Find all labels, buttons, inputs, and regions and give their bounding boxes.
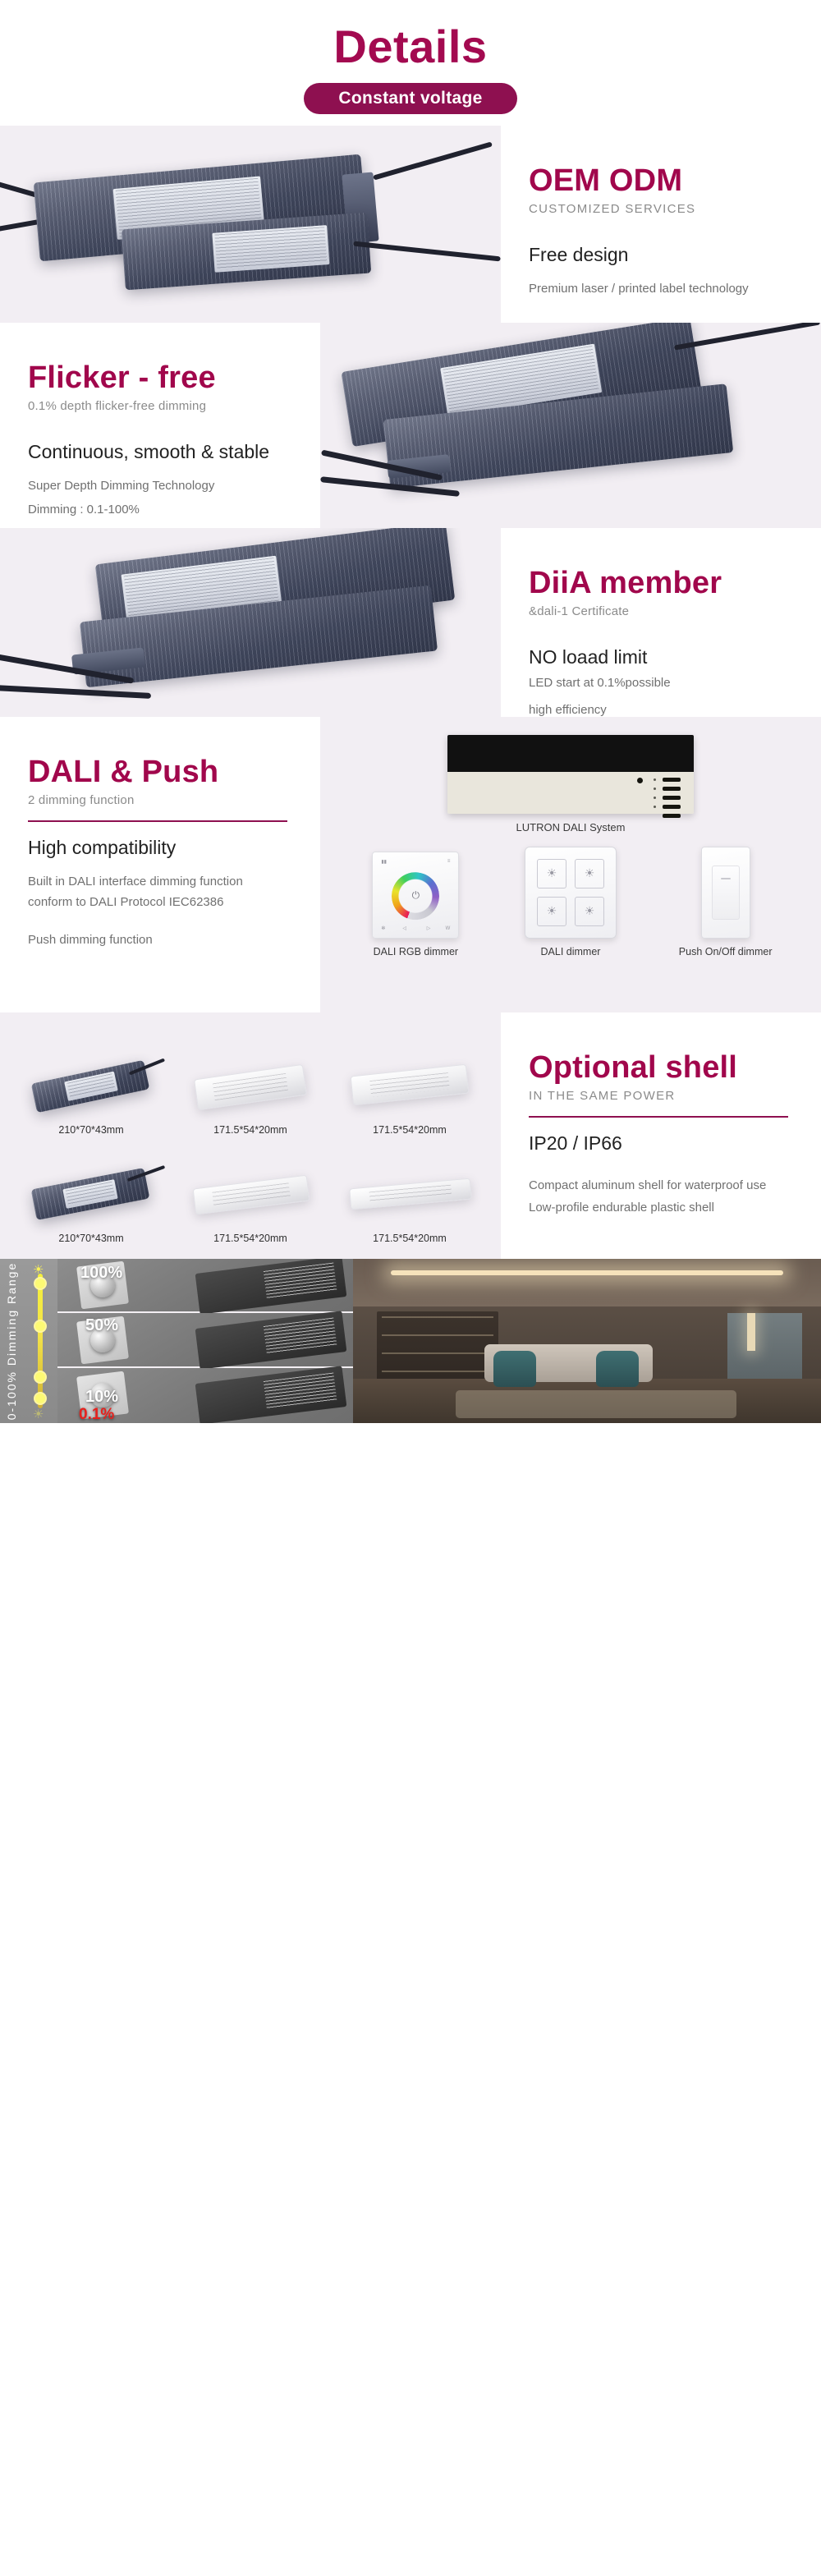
window: [727, 1313, 802, 1389]
section-optional-shell: 210*70*43mm 171.5*54*20mm: [0, 1012, 821, 1259]
dimming-slider-track[interactable]: [38, 1274, 43, 1408]
diia-text-column: DiiA member &dali-1 Certificate NO loaad…: [501, 528, 821, 717]
dali-dimmer-image: ☀ ☀ ☀ ☀: [525, 847, 617, 939]
section-body-line2: Dimming : 0.1-100%: [28, 500, 287, 520]
power-icon: ⏻: [412, 889, 420, 902]
shell-image-aluminum: [21, 1155, 161, 1228]
dimming-axis-label: 0-100% Dimming Range: [5, 1262, 18, 1421]
shell-image-plastic: [181, 1047, 320, 1119]
shell-item: 210*70*43mm: [11, 1136, 171, 1244]
dimming-photo-50: 50%: [57, 1313, 353, 1368]
dimmer-caption: Push On/Off dimmer: [656, 945, 796, 958]
dimmer-cell-push: Push On/Off dimmer: [656, 847, 796, 958]
shell-item: 171.5*54*20mm: [330, 1027, 489, 1136]
oem-text-column: OEM ODM CUSTOMIZED SERVICES Free design …: [501, 126, 821, 323]
rocker-switch[interactable]: [712, 866, 740, 920]
dim-min-label: 0.1%: [79, 1406, 114, 1423]
flicker-text-column: Flicker - free 0.1% depth flicker-free d…: [0, 323, 320, 528]
oem-product-image: [0, 126, 501, 323]
section-subtitle: IN THE SAME POWER: [529, 1089, 788, 1103]
rug: [456, 1390, 736, 1418]
key-grid[interactable]: ☀ ☀ ☀ ☀: [537, 859, 604, 926]
section-title: DALI & Push: [28, 755, 287, 790]
shell-text-column: Optional shell IN THE SAME POWER IP20 / …: [501, 1012, 821, 1259]
section-title: Optional shell: [529, 1050, 788, 1086]
armchair: [493, 1351, 536, 1387]
shell-image-aluminum: [21, 1047, 161, 1119]
lutron-caption: LUTRON DALI System: [338, 821, 803, 833]
keypad-buttons[interactable]: [663, 778, 681, 823]
diia-product-image: [0, 528, 501, 717]
shell-size: 171.5*54*20mm: [213, 1124, 287, 1136]
shell-item: 171.5*54*20mm: [171, 1136, 330, 1244]
cove-lighting: [391, 1270, 784, 1275]
dimmer-cell-dali: ☀ ☀ ☀ ☀ DALI dimmer: [501, 847, 640, 958]
section-title: OEM ODM: [529, 163, 788, 199]
dimmer-products-row: ▮▮ ≡ ⏻ ✻ ◁ ▷ W DALI RGB dimmer ☀: [338, 847, 803, 958]
section-diia-member: DiiA member &dali-1 Certificate NO loaad…: [0, 528, 821, 717]
dim-level-label: 10%: [85, 1388, 118, 1407]
lamp-key-icon[interactable]: ☀: [575, 897, 604, 926]
shell-item: 171.5*54*20mm: [330, 1136, 489, 1244]
label-text-lines: [214, 227, 327, 270]
section-body-line1: LED start at 0.1%possible: [529, 673, 788, 693]
dali-text-column: DALI & Push 2 dimming function High comp…: [0, 717, 320, 1012]
divider: [529, 1116, 788, 1118]
output-wire: [353, 241, 501, 261]
driver-unit: [195, 1366, 347, 1423]
sun-dim-icon: ☀: [33, 1407, 44, 1421]
dim-level-label: 100%: [80, 1264, 122, 1283]
floor-lamp: [747, 1313, 755, 1351]
input-wire: [674, 323, 820, 351]
shell-size: 171.5*54*20mm: [373, 1233, 447, 1244]
product-label: [212, 225, 329, 273]
section-heading2: NO loaad limit: [529, 646, 788, 668]
section-dimming-showcase: ☀ ☀ 0-100% Dimming Range 100% 50: [0, 1259, 821, 1423]
dimming-photo-100: 100%: [57, 1259, 353, 1314]
slider-node-100[interactable]: [34, 1277, 47, 1290]
badge-wrapper: Constant voltage: [0, 83, 821, 114]
section-dali-push: DALI & Push 2 dimming function High comp…: [0, 717, 821, 1012]
section-body-line1: Compact aluminum shell for waterproof us…: [529, 1176, 788, 1196]
shell-item: 171.5*54*20mm: [171, 1027, 330, 1136]
lamp-key-icon[interactable]: ☀: [537, 897, 566, 926]
section-flicker-free: Flicker - free 0.1% depth flicker-free d…: [0, 323, 821, 528]
dimmer-cell-rgb: ▮▮ ≡ ⏻ ✻ ◁ ▷ W DALI RGB dimmer: [346, 852, 485, 958]
dimmer-caption: DALI RGB dimmer: [346, 945, 485, 958]
section-heading2: IP20 / IP66: [529, 1132, 788, 1155]
section-title: Flicker - free: [28, 360, 287, 396]
dimming-axis: ☀ ☀ 0-100% Dimming Range: [0, 1259, 57, 1423]
section-subtitle: CUSTOMIZED SERVICES: [529, 202, 788, 216]
shell-size: 171.5*54*20mm: [373, 1124, 447, 1136]
flicker-product-image: [320, 323, 821, 528]
page-title: Details: [0, 23, 821, 71]
section-body: Premium laser / printed label technology: [529, 279, 788, 299]
section-body-line2: Low-profile endurable plastic shell: [529, 1198, 788, 1218]
section-heading2: Free design: [529, 244, 788, 266]
section-body-line1: Super Depth Dimming Technology: [28, 476, 287, 496]
section-heading2: High compatibility: [28, 837, 287, 859]
dali-rgb-dimmer-image: ▮▮ ≡ ⏻ ✻ ◁ ▷ W: [372, 852, 459, 939]
slider-node-min[interactable]: [34, 1392, 47, 1405]
driver-unit: [195, 1311, 347, 1370]
driver-unit: [195, 1259, 347, 1315]
section-oem-odm: OEM ODM CUSTOMIZED SERVICES Free design …: [0, 126, 821, 323]
dali-devices-panel: LUTRON DALI System ▮▮ ≡ ⏻ ✻ ◁ ▷ W DALI R…: [320, 717, 821, 1012]
dimmer-caption: DALI dimmer: [501, 945, 640, 958]
shell-item: 210*70*43mm: [11, 1027, 171, 1136]
dimming-photo-10: 10% 0.1%: [57, 1368, 353, 1423]
ir-sensor-icon: [637, 778, 643, 783]
lamp-key-icon[interactable]: ☀: [575, 859, 604, 889]
section-title: DiiA member: [529, 566, 788, 601]
lamp-key-icon[interactable]: ☀: [537, 859, 566, 889]
divider: [28, 820, 287, 822]
section-subtitle: &dali-1 Certificate: [529, 604, 788, 618]
shell-size: 210*70*43mm: [58, 1233, 123, 1244]
slider-node-10[interactable]: [34, 1371, 47, 1384]
section-subtitle: 2 dimming function: [28, 793, 287, 807]
slider-node-50[interactable]: [34, 1320, 47, 1333]
lutron-dali-system-image: [447, 735, 694, 814]
dim-level-label: 50%: [85, 1316, 118, 1335]
status-badge: Constant voltage: [304, 83, 516, 114]
shell-size: 171.5*54*20mm: [213, 1233, 287, 1244]
page-header: Details Constant voltage: [0, 0, 821, 126]
push-onoff-dimmer-image: [701, 847, 750, 939]
shell-image-plastic: [340, 1155, 479, 1228]
interior-application-photo: [353, 1259, 821, 1423]
section-heading2: Continuous, smooth & stable: [28, 441, 287, 463]
shell-image-plastic: [181, 1155, 320, 1228]
dimming-photos: 100% 50% 10% 0.1%: [57, 1259, 353, 1423]
shell-size: 210*70*43mm: [58, 1124, 123, 1136]
dimming-range-panel: ☀ ☀ 0-100% Dimming Range 100% 50: [0, 1259, 353, 1423]
ceiling: [353, 1259, 821, 1306]
product-detail-page: Details Constant voltage: [0, 0, 821, 1423]
shell-image-plastic: [340, 1047, 479, 1119]
shell-gallery: 210*70*43mm 171.5*54*20mm: [0, 1012, 501, 1259]
status-leds: [654, 778, 656, 815]
output-wire: [0, 685, 151, 699]
section-body-line2: Push dimming function: [28, 930, 287, 950]
section-body-line1: Built in DALI interface dimming function…: [28, 872, 287, 912]
armchair: [596, 1351, 639, 1387]
output-wire: [373, 141, 493, 180]
section-subtitle: 0.1% depth flicker-free dimming: [28, 399, 287, 413]
shell-grid: 210*70*43mm 171.5*54*20mm: [11, 1027, 489, 1244]
